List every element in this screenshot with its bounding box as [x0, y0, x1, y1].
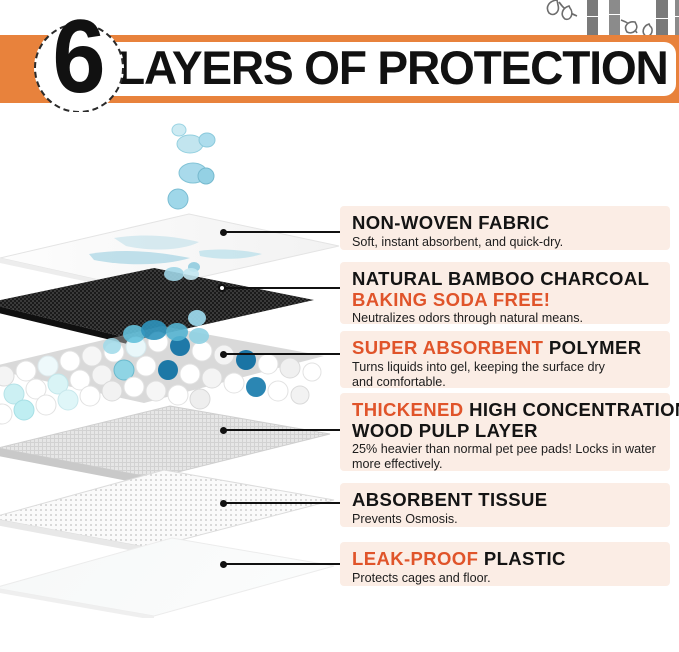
- layer-desc-3b: and comfortable.: [352, 375, 660, 390]
- layer-callout-absorbent-tissue: ABSORBENT TISSUE Prevents Osmosis.: [340, 483, 670, 527]
- layer-title-5-text: ABSORBENT TISSUE: [352, 489, 548, 510]
- layer-desc-4: 25% heavier than normal pet pee pads! Lo…: [352, 442, 660, 457]
- layer-desc-6: Protects cages and floor.: [352, 571, 660, 586]
- connector-dot-6: [220, 561, 227, 568]
- layer-leak-proof-plastic: [0, 538, 334, 618]
- page-title: LAYERS OF PROTECTION: [117, 38, 672, 98]
- layer-title-1: NON-WOVEN FABRIC: [352, 212, 660, 233]
- connector-line-2: [222, 287, 340, 289]
- layer-callout-leak-proof-plastic: LEAK-PROOF PLASTIC Protects cages and fl…: [340, 542, 670, 586]
- connector-line-5: [222, 502, 340, 504]
- layer-title-3-accent: SUPER ABSORBENT: [352, 337, 543, 358]
- layer-emphasis-2-text: BAKING SODA FREE!: [352, 289, 550, 310]
- layer-title-4-rest: HIGH CONCENTRATION: [464, 399, 679, 420]
- layer-desc-3: Turns liquids into gel, keeping the surf…: [352, 360, 660, 375]
- layer-desc-2: Neutralizes odors through natural means.: [352, 311, 660, 326]
- layer-callout-wood-pulp-layer: THICKENED HIGH CONCENTRATION WOOD PULP L…: [340, 393, 670, 471]
- layer-title-5: ABSORBENT TISSUE: [352, 489, 660, 510]
- layer-callout-natural-bamboo-charcoal: NATURAL BAMBOO CHARCOAL BAKING SODA FREE…: [340, 262, 670, 324]
- connector-line-1: [222, 231, 340, 233]
- layered-product-illustration: [0, 118, 344, 618]
- layer-count-number: 6: [38, 2, 121, 112]
- connector-dot-1: [220, 229, 227, 236]
- layer-title-4: THICKENED HIGH CONCENTRATION: [352, 399, 660, 420]
- layer-title-2-text: NATURAL BAMBOO CHARCOAL: [352, 268, 649, 289]
- infographic-root: LAYERS OF PROTECTION 6: [0, 0, 679, 652]
- layer-title-3: SUPER ABSORBENT POLYMER: [352, 337, 660, 358]
- layer-title-6: LEAK-PROOF PLASTIC: [352, 548, 660, 569]
- connector-dot-2: [218, 284, 226, 292]
- connector-line-6: [222, 563, 340, 565]
- header: LAYERS OF PROTECTION 6: [0, 0, 679, 112]
- layer-callout-non-woven-fabric: NON-WOVEN FABRIC Soft, instant absorbent…: [340, 206, 670, 250]
- layer-title-4-accent: THICKENED: [352, 399, 464, 420]
- connector-line-4: [222, 429, 340, 431]
- layer-emphasis-2: BAKING SODA FREE!: [352, 289, 660, 310]
- connector-line-3: [222, 353, 340, 355]
- connector-dot-3: [220, 351, 227, 358]
- connector-dot-4: [220, 427, 227, 434]
- layer-desc-5: Prevents Osmosis.: [352, 512, 660, 527]
- layer-title-3-rest: POLYMER: [543, 337, 641, 358]
- layer-title-6-accent: LEAK-PROOF: [352, 548, 478, 569]
- connector-dot-5: [220, 500, 227, 507]
- layer-desc-4b: more effectively.: [352, 457, 660, 472]
- layer-title-1-text: NON-WOVEN FABRIC: [352, 212, 550, 233]
- layer-title-6-rest: PLASTIC: [478, 548, 565, 569]
- layer-callout-super-absorbent-polymer: SUPER ABSORBENT POLYMER Turns liquids in…: [340, 331, 670, 388]
- layer-title-4-line2: WOOD PULP LAYER: [352, 420, 660, 441]
- layer-title-2: NATURAL BAMBOO CHARCOAL: [352, 268, 660, 289]
- layer-desc-1: Soft, instant absorbent, and quick-dry.: [352, 235, 660, 250]
